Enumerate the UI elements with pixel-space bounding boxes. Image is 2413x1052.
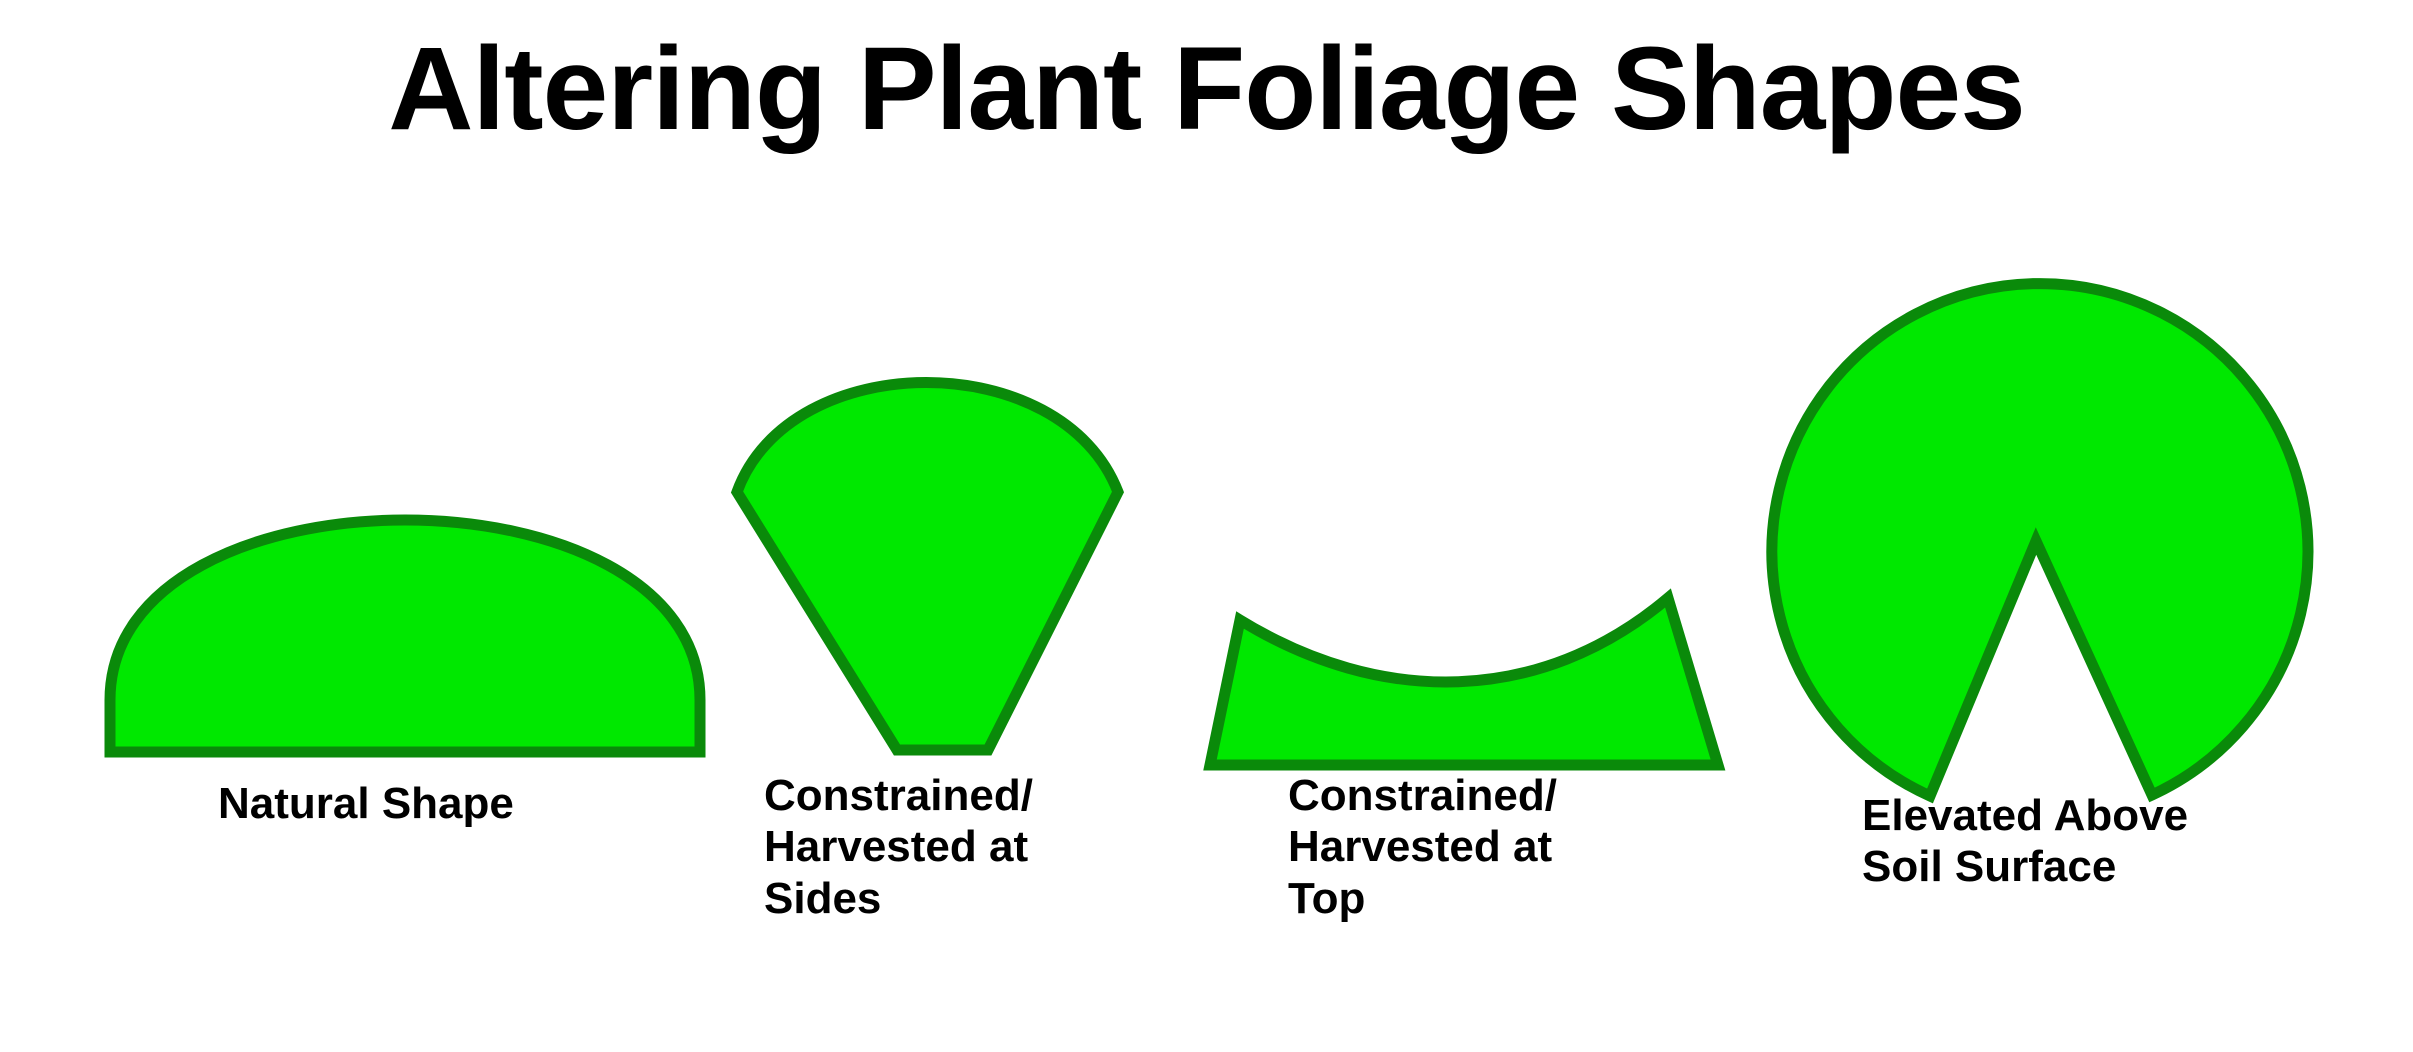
shape-constrained-sides-fan [737,383,1118,751]
shape-label-elevated-above-soil: Elevated Above Soil Surface [1862,790,2188,893]
foliage-shape-canvas [0,0,2413,1052]
shape-label-constrained-sides: Constrained/ Harvested at Sides [764,770,1033,924]
shape-label-natural-shape: Natural Shape [218,778,514,829]
shape-label-constrained-top: Constrained/ Harvested at Top [1288,770,1557,924]
diagram-root: Altering Plant Foliage Shapes Natural Sh… [0,0,2413,1052]
shape-elevated-notched-circle [1772,284,2308,796]
shape-natural-dome [110,520,700,752]
shape-constrained-top-band [1210,598,1718,765]
